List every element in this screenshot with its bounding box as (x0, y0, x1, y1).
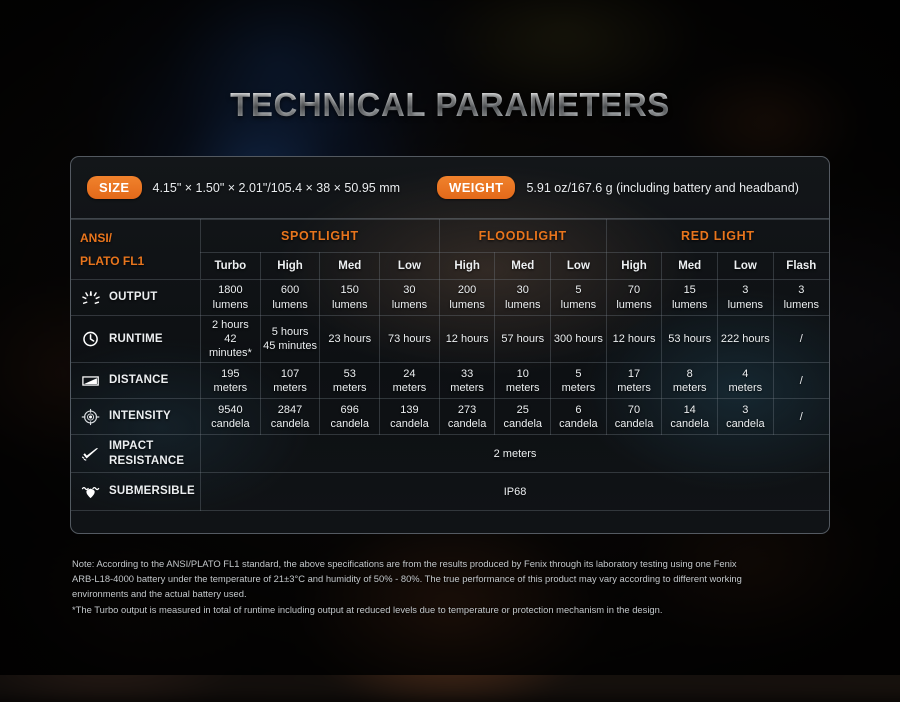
mode-header-high: High (439, 253, 495, 280)
table-cell: 3candela (718, 399, 774, 435)
mode-header-high: High (260, 253, 320, 280)
row-label-content: DISTANCE (80, 372, 199, 390)
specifications-panel: SIZE 4.15" × 1.50" × 2.01"/105.4 × 38 × … (70, 156, 830, 534)
table-cell: / (773, 316, 829, 363)
group-header-spotlight: SPOTLIGHT (201, 220, 440, 253)
table-row: IMPACTRESISTANCE2 meters (71, 435, 829, 473)
mode-header-high: High (606, 253, 662, 280)
beam-distance-icon (80, 372, 102, 390)
footnote: Note: According to the ANSI/PLATO FL1 st… (72, 556, 840, 617)
table-row: INTENSITY9540candela2847candela696candel… (71, 399, 829, 435)
row-label-text: INTENSITY (109, 409, 171, 424)
table-cell: 30lumens (495, 280, 551, 316)
table-cell: 10meters (495, 363, 551, 399)
row-label-text: OUTPUT (109, 290, 157, 305)
table-cell: 57 hours (495, 316, 551, 363)
table-cell-submersible-value: IP68 (201, 473, 829, 511)
table-cell: 53 hours (662, 316, 718, 363)
table-row: RUNTIME2 hours42 minutes*5 hours45 minut… (71, 316, 829, 363)
mode-header-med: Med (495, 253, 551, 280)
table-cell: 3lumens (718, 280, 774, 316)
table-cell: 5lumens (551, 280, 607, 316)
specifications-table: ANSI/PLATO FL1SPOTLIGHTFLOODLIGHTRED LIG… (71, 219, 829, 511)
table-cell: / (773, 363, 829, 399)
table-cell: 73 hours (380, 316, 440, 363)
table-cell: 273candela (439, 399, 495, 435)
table-row: SUBMERSIBLEIP68 (71, 473, 829, 511)
crosshair-target-icon (80, 408, 102, 426)
table-cell: 696candela (320, 399, 380, 435)
table-row: OUTPUT1800lumens600lumens150lumens30lume… (71, 280, 829, 316)
clock-icon (80, 330, 102, 348)
row-label-content: OUTPUT (80, 289, 199, 307)
table-group-header-row: ANSI/PLATO FL1SPOTLIGHTFLOODLIGHTRED LIG… (71, 220, 829, 253)
table-cell: 195meters (201, 363, 261, 399)
size-value: 4.15" × 1.50" × 2.01"/105.4 × 38 × 50.95… (153, 181, 401, 195)
page-title: TECHNICAL PARAMETERS (0, 86, 900, 124)
table-cell: 9540candela (201, 399, 261, 435)
table-cell: 70candela (606, 399, 662, 435)
table-cell: 25candela (495, 399, 551, 435)
impact-check-icon (80, 445, 102, 463)
row-label-impact: IMPACTRESISTANCE (71, 435, 201, 473)
row-label-runtime: RUNTIME (71, 316, 201, 363)
row-label-output: OUTPUT (71, 280, 201, 316)
row-label-content: IMPACTRESISTANCE (80, 439, 199, 468)
size-weight-strip: SIZE 4.15" × 1.50" × 2.01"/105.4 × 38 × … (71, 157, 829, 219)
weight-group: WEIGHT 5.91 oz/167.6 g (including batter… (437, 176, 799, 199)
table-cell: 3lumens (773, 280, 829, 316)
table-cell: 5meters (551, 363, 607, 399)
light-rays-icon (80, 289, 102, 307)
row-label-content: RUNTIME (80, 330, 199, 348)
table-cell: 150lumens (320, 280, 380, 316)
table-cell: 15lumens (662, 280, 718, 316)
table-cell: 4meters (718, 363, 774, 399)
table-cell: 30lumens (380, 280, 440, 316)
table-cell: / (773, 399, 829, 435)
table-cell: 53meters (320, 363, 380, 399)
mode-header-low: Low (718, 253, 774, 280)
footnote-line-2: ARB-L18-4000 battery under the temperatu… (72, 571, 840, 586)
table-cell: 2 hours42 minutes* (201, 316, 261, 363)
mode-header-low: Low (380, 253, 440, 280)
row-label-text: SUBMERSIBLE (109, 484, 195, 499)
mode-header-flash: Flash (773, 253, 829, 280)
ansi-line-2: PLATO FL1 (80, 254, 144, 268)
footnote-line-4: *The Turbo output is measured in total o… (72, 602, 840, 617)
row-label-text: IMPACTRESISTANCE (109, 439, 184, 468)
table-cell: 139candela (380, 399, 440, 435)
row-label-distance: DISTANCE (71, 363, 201, 399)
table-cell: 70lumens (606, 280, 662, 316)
ansi-plato-label: ANSI/PLATO FL1 (71, 220, 201, 280)
table-cell-impact-value: 2 meters (201, 435, 829, 473)
mode-header-low: Low (551, 253, 607, 280)
row-label-content: INTENSITY (80, 408, 199, 426)
table-cell: 17meters (606, 363, 662, 399)
table-cell: 200lumens (439, 280, 495, 316)
table-cell: 33meters (439, 363, 495, 399)
table-cell: 6candela (551, 399, 607, 435)
weight-value: 5.91 oz/167.6 g (including battery and h… (526, 181, 798, 195)
table-cell: 23 hours (320, 316, 380, 363)
table-row: DISTANCE195meters107meters53meters24mete… (71, 363, 829, 399)
table-cell: 12 hours (606, 316, 662, 363)
row-label-text: RUNTIME (109, 332, 163, 347)
mode-header-med: Med (320, 253, 380, 280)
footnote-line-1: Note: According to the ANSI/PLATO FL1 st… (72, 556, 840, 571)
table-cell: 8meters (662, 363, 718, 399)
group-header-red-light: RED LIGHT (606, 220, 829, 253)
table-cell: 2847candela (260, 399, 320, 435)
table-cell: 300 hours (551, 316, 607, 363)
table-cell: 107meters (260, 363, 320, 399)
table-cell: 5 hours45 minutes (260, 316, 320, 363)
table-cell: 24meters (380, 363, 440, 399)
weight-badge: WEIGHT (437, 176, 515, 199)
table-cell: 1800lumens (201, 280, 261, 316)
table-cell: 14candela (662, 399, 718, 435)
mode-header-med: Med (662, 253, 718, 280)
row-label-content: SUBMERSIBLE (80, 483, 199, 501)
table-cell: 600lumens (260, 280, 320, 316)
table-cell: 12 hours (439, 316, 495, 363)
row-label-submersible: SUBMERSIBLE (71, 473, 201, 511)
water-drop-icon (80, 483, 102, 501)
group-header-floodlight: FLOODLIGHT (439, 220, 606, 253)
row-label-text: DISTANCE (109, 373, 169, 388)
footnote-line-3: environments and the actual battery used… (72, 586, 840, 601)
mode-header-turbo: Turbo (201, 253, 261, 280)
row-label-intensity: INTENSITY (71, 399, 201, 435)
ansi-line-1: ANSI/ (80, 231, 112, 245)
table-cell: 222 hours (718, 316, 774, 363)
size-badge: SIZE (87, 176, 142, 199)
